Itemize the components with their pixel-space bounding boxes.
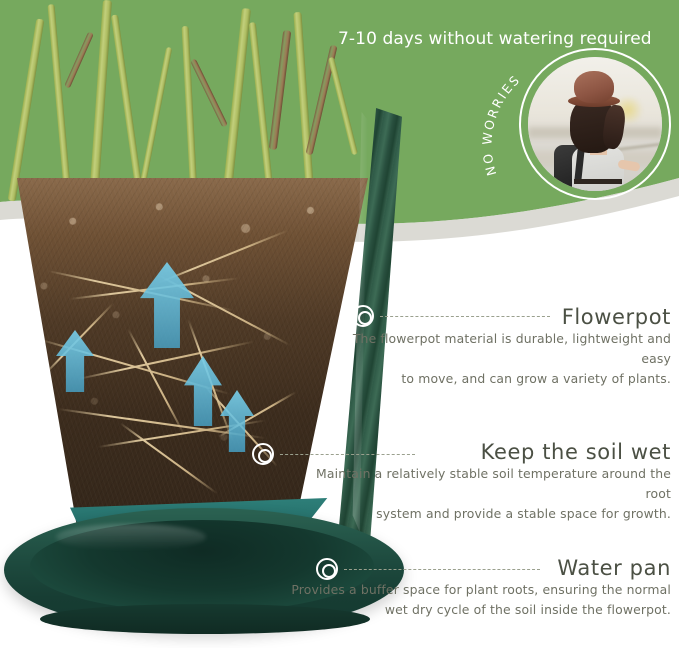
banner-headline: 7-10 days without watering required [338, 29, 674, 49]
callout-body: The flowerpot material is durable, light… [331, 329, 671, 389]
callout-title: Keep the soil wet [315, 440, 671, 464]
saucer-highlight [56, 524, 206, 550]
target-ring-icon [352, 305, 374, 327]
stem [293, 12, 314, 202]
infographic-canvas: 7-10 days without watering required [0, 0, 679, 648]
stem [89, 0, 112, 200]
callout-body-line: Maintain a relatively stable soil temper… [291, 464, 671, 504]
callout-body-line: system and provide a stable space for gr… [291, 504, 671, 524]
stem [138, 47, 173, 195]
stem [111, 14, 144, 201]
stem [182, 26, 198, 196]
stem [269, 30, 292, 150]
stem [190, 58, 228, 127]
no-worries-curved-text: NO WORRIES [497, 48, 679, 200]
stem [249, 22, 275, 200]
stem [8, 19, 45, 202]
target-ring-icon [316, 558, 338, 580]
callout-body-line: to move, and can grow a variety of plant… [331, 369, 671, 389]
callout-body-line: The flowerpot material is durable, light… [331, 329, 671, 369]
stem [64, 31, 94, 88]
callout-body-line: wet dry cycle of the soil inside the flo… [291, 600, 671, 620]
callout-body: Maintain a relatively stable soil temper… [291, 464, 671, 524]
stem [328, 57, 358, 155]
stem [47, 4, 71, 200]
callout-body: Provides a buffer space for plant roots,… [291, 580, 671, 620]
no-worries-inset: NO WORRIES [497, 62, 679, 186]
callout-title: Water pan [371, 556, 671, 580]
root [119, 422, 217, 494]
stem [222, 8, 251, 200]
target-ring-icon [252, 443, 274, 465]
callout-title: Flowerpot [379, 305, 671, 329]
water-arrow [16, 360, 50, 418]
callout-body-line: Provides a buffer space for plant roots,… [291, 580, 671, 600]
